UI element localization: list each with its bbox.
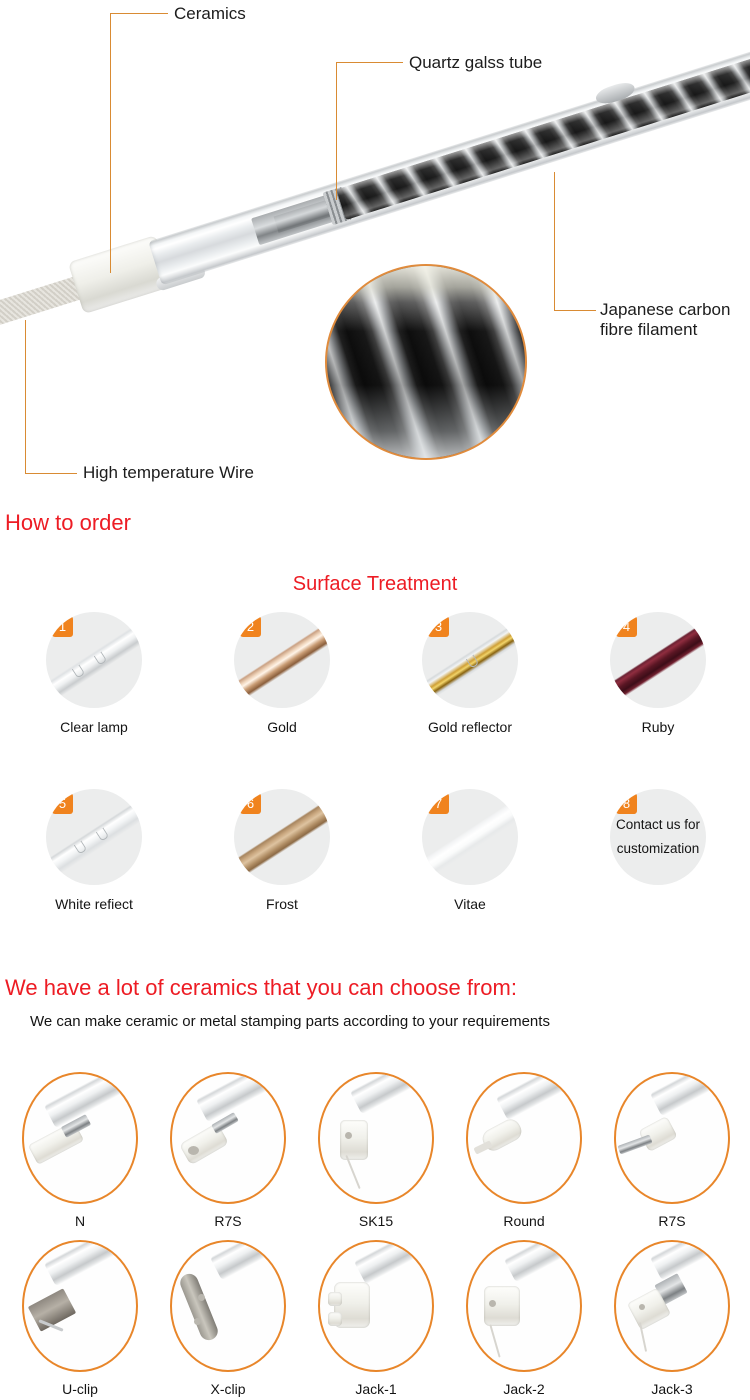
lead-wire-part — [489, 1324, 500, 1357]
callout-label-quartz-tube: Quartz galss tube — [409, 53, 542, 73]
tube-part — [650, 1240, 730, 1280]
x-clip-part — [178, 1271, 221, 1343]
surface-item-2[interactable]: 2 Gold — [188, 612, 376, 735]
ceramic-label-r7s-1: R7S — [153, 1213, 303, 1229]
surface-item-6[interactable]: 6 Frost — [188, 789, 376, 912]
ceramic-label-sk15: SK15 — [301, 1213, 451, 1229]
ceramic-label-jack-1: Jack-1 — [301, 1381, 451, 1397]
clip-hole-part — [198, 1294, 205, 1301]
ceramic-item-round[interactable]: Round — [449, 1072, 599, 1229]
ceramic-item-n[interactable]: N — [5, 1072, 155, 1229]
tube-part — [354, 1240, 434, 1284]
ceramic-item-r7s-2[interactable]: R7S — [597, 1072, 747, 1229]
surface-thumb-1[interactable]: 1 — [46, 612, 142, 708]
surface-contact-text-line1: Contact us for — [616, 813, 700, 837]
surface-badge-6: 6 — [240, 793, 261, 814]
ceramic-item-x-clip[interactable]: X-clip — [153, 1240, 303, 1397]
cap-hole-part — [188, 1146, 199, 1155]
surface-item-7[interactable]: 7 Vitae — [376, 789, 564, 912]
ceramic-item-sk15[interactable]: SK15 — [301, 1072, 451, 1229]
ceramic-thumb-r7s-2[interactable] — [614, 1072, 730, 1204]
callout-label-ceramics: Ceramics — [174, 4, 246, 24]
ceramic-jack-notch — [328, 1292, 342, 1306]
surface-treatment-grid: 1 Clear lamp 2 Gold 3 Gold reflector 4 R… — [0, 612, 750, 962]
ceramics-leader-vertical — [110, 13, 111, 273]
surface-badge-1: 1 — [52, 616, 73, 637]
surface-badge-2: 2 — [240, 616, 261, 637]
lead-wire-part — [345, 1155, 360, 1189]
cap-hole-part — [345, 1132, 352, 1139]
ceramic-label-round: Round — [449, 1213, 599, 1229]
surface-item-1[interactable]: 1 Clear lamp — [0, 612, 188, 735]
callout-label-carbon-filament-line2: fibre filament — [600, 320, 730, 340]
ceramics-note: We can make ceramic or metal stamping pa… — [30, 1013, 550, 1030]
heading-ceramics-choice: We have a lot of ceramics that you can c… — [5, 975, 517, 1001]
ceramic-label-r7s-2: R7S — [597, 1213, 747, 1229]
quartz-tube-leader-vertical — [336, 62, 337, 200]
surface-label-7: Vitae — [376, 896, 564, 912]
ceramic-item-jack-2[interactable]: Jack-2 — [449, 1240, 599, 1397]
ceramic-label-n: N — [5, 1213, 155, 1229]
ceramic-label-jack-2: Jack-2 — [449, 1381, 599, 1397]
ceramic-thumb-jack-1[interactable] — [318, 1240, 434, 1372]
surface-item-8[interactable]: Contact us for customization 8 — [564, 789, 750, 896]
tube-part — [44, 1072, 138, 1128]
inset-gloss-overlay — [327, 266, 525, 458]
ceramic-item-u-clip[interactable]: U-clip — [5, 1240, 155, 1397]
surface-label-2: Gold — [188, 719, 376, 735]
ceramic-label-u-clip: U-clip — [5, 1381, 155, 1397]
carbon-filament-leader-horizontal — [554, 310, 596, 311]
filament-closeup-inset — [325, 264, 527, 460]
surface-badge-3: 3 — [428, 616, 449, 637]
ceramic-thumb-x-clip[interactable] — [170, 1240, 286, 1372]
tube-part — [650, 1072, 730, 1116]
surface-label-4: Ruby — [564, 719, 750, 735]
surface-thumb-2[interactable]: 2 — [234, 612, 330, 708]
ceramic-thumb-sk15[interactable] — [318, 1072, 434, 1204]
ceramic-cap-part — [638, 1116, 678, 1152]
surface-badge-4: 4 — [616, 616, 637, 637]
surface-thumb-5[interactable]: 5 — [46, 789, 142, 885]
product-diagram: Ceramics Quartz galss tube Japanese carb… — [0, 0, 750, 498]
clip-hole-part — [194, 1318, 201, 1325]
tube-glare-overlay — [336, 55, 750, 220]
metal-pin-part — [617, 1134, 652, 1154]
tube-part — [504, 1240, 582, 1282]
tube-part — [196, 1072, 286, 1122]
jack-hole-part — [489, 1300, 496, 1307]
ceramics-options-grid: N R7S SK15 Round R — [0, 1072, 750, 1400]
heading-how-to-order: How to order — [5, 510, 131, 536]
callout-label-carbon-filament-line1: Japanese carbon — [600, 300, 730, 320]
surface-label-1: Clear lamp — [0, 719, 188, 735]
ceramic-jack-notch — [328, 1312, 342, 1326]
tube-part — [44, 1240, 138, 1286]
ceramic-thumb-r7s-1[interactable] — [170, 1072, 286, 1204]
ceramic-thumb-u-clip[interactable] — [22, 1240, 138, 1372]
ceramic-item-jack-3[interactable]: Jack-3 — [597, 1240, 747, 1397]
surface-label-3: Gold reflector — [376, 719, 564, 735]
ceramic-thumb-n[interactable] — [22, 1072, 138, 1204]
surface-label-5: White refiect — [0, 896, 188, 912]
tube-part — [496, 1072, 582, 1120]
ceramic-thumb-round[interactable] — [466, 1072, 582, 1204]
high-temp-wire-leader-horizontal — [25, 473, 77, 474]
high-temp-wire-leader-vertical — [25, 320, 26, 473]
quartz-tube-leader-horizontal — [336, 62, 403, 63]
tube-part — [350, 1072, 434, 1114]
surface-item-5[interactable]: 5 White refiect — [0, 789, 188, 912]
high-temperature-wire-part — [0, 275, 85, 381]
surface-badge-5: 5 — [52, 793, 73, 814]
ceramic-item-jack-1[interactable]: Jack-1 — [301, 1240, 451, 1397]
surface-thumb-7[interactable]: 7 — [422, 789, 518, 885]
tube-part — [210, 1240, 286, 1280]
surface-item-4[interactable]: 4 Ruby — [564, 612, 750, 735]
ceramic-thumb-jack-3[interactable] — [614, 1240, 730, 1372]
surface-badge-8: 8 — [616, 793, 637, 814]
surface-thumb-6[interactable]: 6 — [234, 789, 330, 885]
callout-label-high-temp-wire: High temperature Wire — [83, 463, 254, 483]
surface-badge-7: 7 — [428, 793, 449, 814]
lead-wire-part — [473, 1140, 492, 1154]
surface-thumb-4[interactable]: 4 — [610, 612, 706, 708]
carbon-filament-leader-vertical — [554, 172, 555, 311]
ceramic-item-r7s-1[interactable]: R7S — [153, 1072, 303, 1229]
ceramic-thumb-jack-2[interactable] — [466, 1240, 582, 1372]
ceramics-leader-horizontal — [110, 13, 168, 14]
surface-label-6: Frost — [188, 896, 376, 912]
callout-label-carbon-filament: Japanese carbon fibre filament — [600, 300, 730, 340]
jack-hole-part — [639, 1304, 645, 1310]
ceramic-cap-part — [340, 1120, 368, 1160]
heading-surface-treatment: Surface Treatment — [0, 573, 750, 596]
surface-thumb-3[interactable]: 3 — [422, 612, 518, 708]
surface-item-3[interactable]: 3 Gold reflector — [376, 612, 564, 735]
surface-thumb-8[interactable]: Contact us for customization 8 — [610, 789, 706, 885]
ceramic-label-x-clip: X-clip — [153, 1381, 303, 1397]
ceramic-label-jack-3: Jack-3 — [597, 1381, 747, 1397]
surface-contact-text-line2: customization — [617, 837, 700, 861]
